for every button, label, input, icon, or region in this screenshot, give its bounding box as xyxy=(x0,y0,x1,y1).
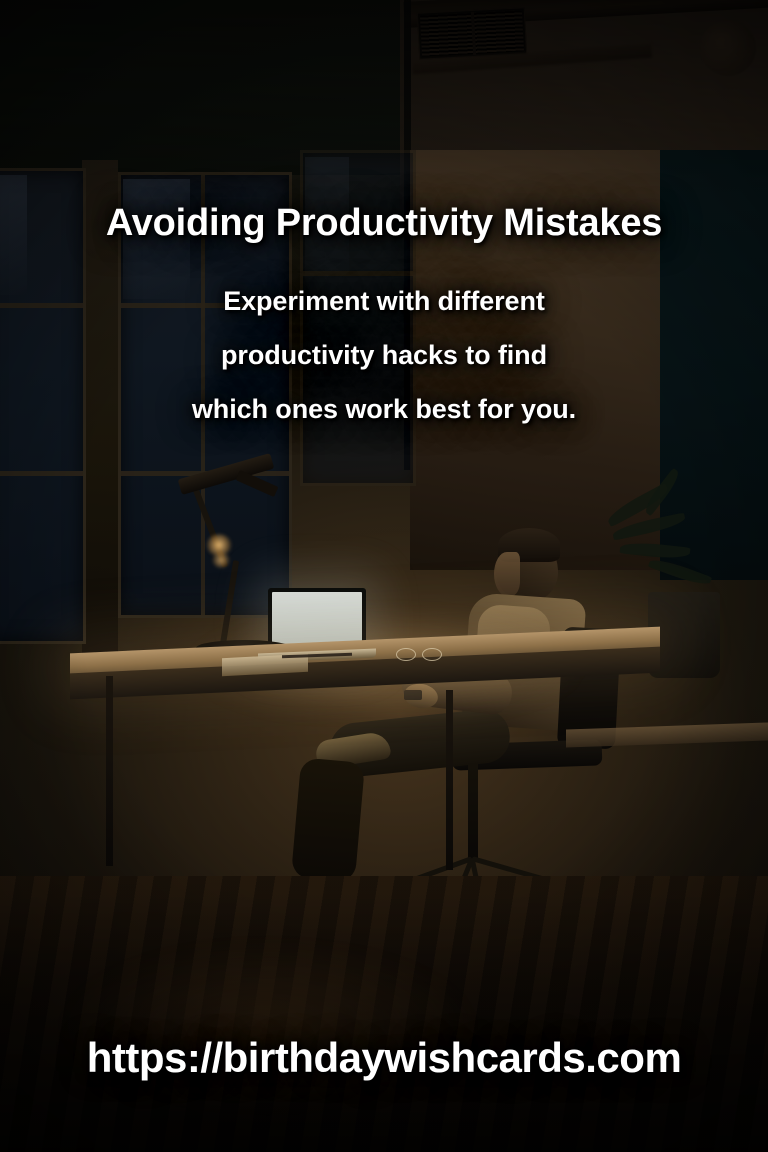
text-overlay: Avoiding Productivity Mistakes Experimen… xyxy=(0,0,768,1152)
subtitle-line-2: productivity hacks to find xyxy=(0,328,768,382)
page-title: Avoiding Productivity Mistakes xyxy=(0,200,768,246)
subtitle-line-3: which ones work best for you. xyxy=(0,382,768,436)
subtitle-block: Experiment with different productivity h… xyxy=(0,274,768,436)
site-url[interactable]: https://birthdaywishcards.com xyxy=(0,1030,768,1086)
poster-canvas: Avoiding Productivity Mistakes Experimen… xyxy=(0,0,768,1152)
subtitle-line-1: Experiment with different xyxy=(0,274,768,328)
